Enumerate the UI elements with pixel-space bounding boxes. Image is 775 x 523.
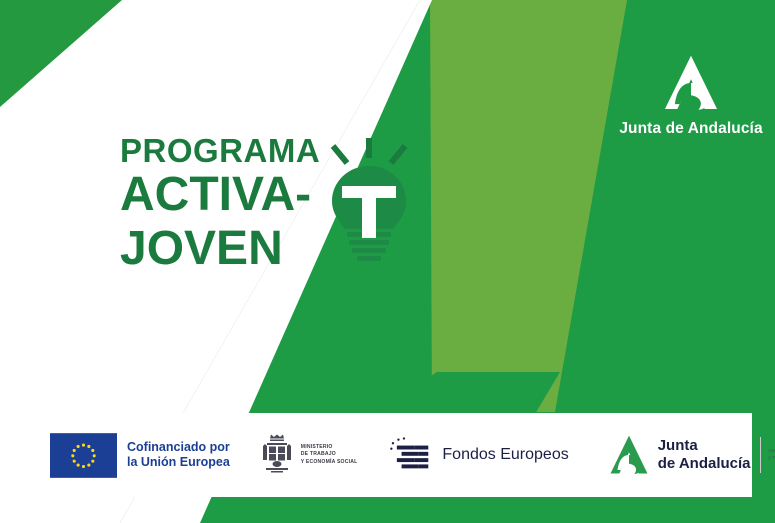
footer-ministerio-line-2: DE TRABAJO — [301, 451, 358, 458]
junta-andalucia-a-icon — [607, 433, 651, 477]
footer-junta-consejeria: Consejería de Empleo, Empresa y Trabajo … — [769, 448, 775, 462]
footer-logo-junta-andalucia: Junta de Andalucía Consejería de Empleo,… — [607, 433, 775, 477]
footer-ministerio-text: MINISTERIO DE TRABAJO Y ECONOMÍA SOCIAL — [301, 444, 358, 466]
footer-junta-divider — [760, 437, 761, 473]
footer-fondos-label: Fondos Europeos — [442, 446, 568, 464]
brand-junta-andalucia-top: Junta de Andalucía — [615, 52, 767, 138]
junta-andalucia-a-icon — [660, 52, 722, 114]
footer-logo-eu: Cofinanciado por la Unión Europea — [50, 433, 230, 478]
footer-junta-consejeria-line-1: Consejería de Empleo, Empresa — [769, 448, 775, 455]
footer-eu-line-1: Cofinanciado por — [127, 440, 230, 455]
footer-ministerio-line-1: MINISTERIO — [301, 444, 358, 451]
brand-junta-andalucia-top-label: Junta de Andalucía — [619, 120, 762, 138]
footer-logo-bar: Cofinanciado por la Unión Europea — [0, 413, 752, 497]
footer-junta-consejeria-line-2: y Trabajo Autónomo — [769, 455, 775, 462]
eu-flag-icon — [50, 433, 117, 478]
footer-ministerio-line-3: Y ECONOMÍA SOCIAL — [301, 459, 358, 466]
footer-junta-name: Junta de Andalucía — [658, 437, 751, 472]
footer-junta-name-line-2: de Andalucía — [658, 455, 751, 473]
lightbulb-t-icon — [316, 136, 422, 264]
footer-eu-text: Cofinanciado por la Unión Europea — [127, 440, 230, 471]
footer-eu-line-2: la Unión Europea — [127, 455, 230, 470]
footer-logo-fondos-europeos: Fondos Europeos — [389, 436, 568, 474]
poster-canvas: Junta de Andalucía PROGRAMA ACTIVA- JOVE… — [0, 0, 775, 523]
fondos-europeos-icon — [389, 436, 433, 474]
footer-junta-name-line-1: Junta — [658, 437, 751, 455]
footer-logo-ministerio: MINISTERIO DE TRABAJO Y ECONOMÍA SOCIAL — [260, 433, 358, 477]
spain-coat-of-arms-icon — [260, 433, 294, 477]
